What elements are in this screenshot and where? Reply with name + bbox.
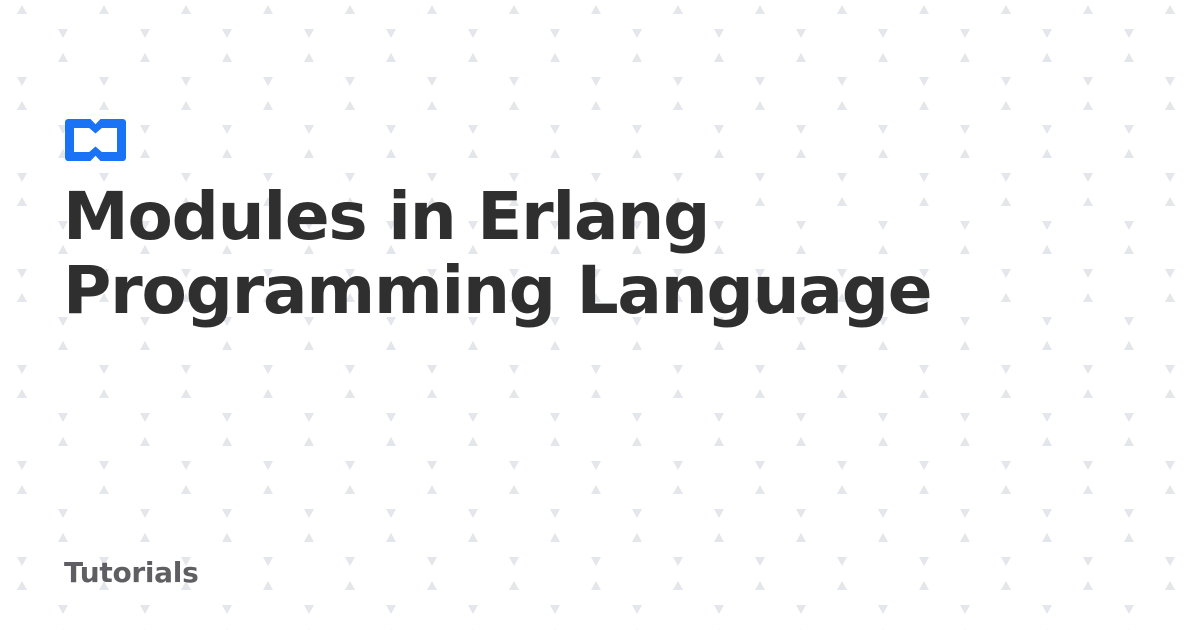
og-card: Modules in Erlang Programming Language T…: [0, 0, 1200, 630]
card-content: Modules in Erlang Programming Language T…: [0, 0, 1200, 630]
open-book-icon: [65, 119, 126, 161]
category-label: Tutorials: [64, 556, 198, 589]
page-title: Modules in Erlang Programming Language: [63, 180, 1123, 328]
